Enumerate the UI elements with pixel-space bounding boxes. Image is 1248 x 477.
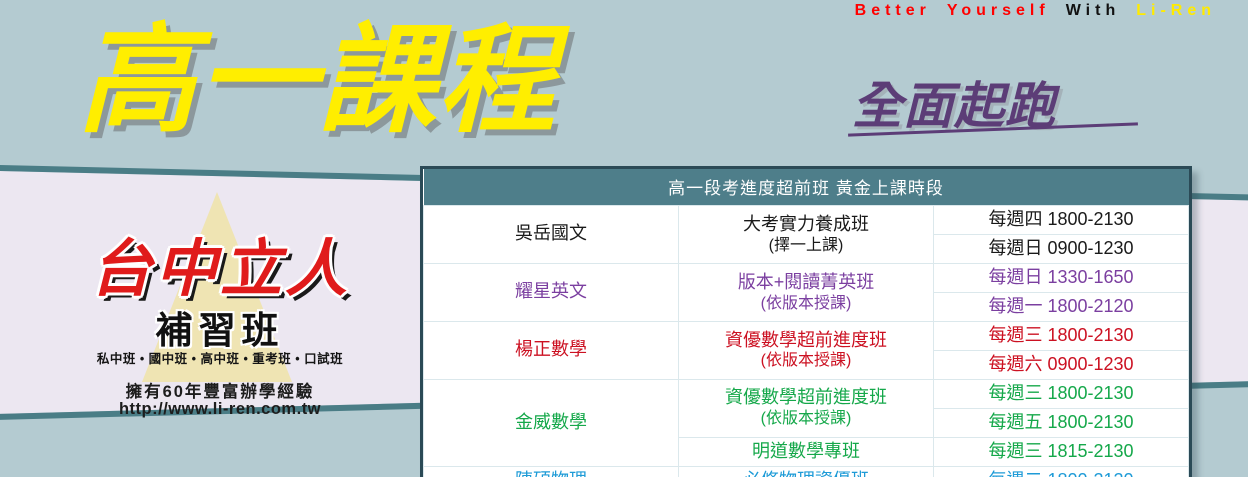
schedule-table-container: 高一段考進度超前班 黃金上課時段 吳岳國文大考實力養成班(擇一上課)每週四 18… (420, 166, 1192, 477)
tagline: BetterYourselfWithLi-Ren (855, 2, 1232, 20)
logo: 台中立人 補習班 私中班 • 國中班 • 高中班 • 重考班 • 口試班 擁有6… (46, 196, 394, 426)
page-title: 高一課程 (78, 16, 558, 143)
schedule-header-title: 高一段考進度超前班 黃金上課時段 (424, 169, 1189, 206)
logo-brand-suffix: 補習班 (46, 300, 394, 354)
logo-brand-name: 台中立人 (46, 218, 394, 308)
cell-timeslot: 每週一 1800-2120 (934, 292, 1189, 321)
cell-course: 明道數學專班 (679, 437, 934, 466)
table-row: 吳岳國文大考實力養成班(擇一上課)每週四 1800-2130 (424, 206, 1189, 235)
cell-course: 版本+閱讀菁英班(依版本授課) (679, 263, 934, 321)
course-title: 資優數學超前進度班 (725, 387, 887, 407)
schedule-table: 高一段考進度超前班 黃金上課時段 吳岳國文大考實力養成班(擇一上課)每週四 18… (423, 169, 1189, 477)
cell-timeslot: 每週五 1800-2130 (934, 408, 1189, 437)
cell-timeslot: 每週三 1800-2130 (934, 321, 1189, 350)
cell-teacher: 耀星英文 (424, 263, 679, 321)
table-row: 陳碩物理必修物理資優班每週二 1800-2120 (424, 466, 1189, 477)
cell-timeslot: 每週日 0900-1230 (934, 234, 1189, 263)
table-row: 金威數學資優數學超前進度班(依版本授課)每週三 1800-2130 (424, 379, 1189, 408)
course-note: (擇一上課) (681, 236, 931, 256)
schedule-table-head: 高一段考進度超前班 黃金上課時段 (424, 169, 1189, 206)
tagline-word-3: Li-Ren (1136, 2, 1216, 19)
course-title: 資優數學超前進度班 (725, 330, 887, 350)
tagline-word-2: With (1066, 2, 1121, 19)
cell-course: 資優數學超前進度班(依版本授課) (679, 321, 934, 379)
logo-experience: 擁有60年豐富辦學經驗 (46, 378, 394, 402)
cell-course: 大考實力養成班(擇一上課) (679, 206, 934, 264)
course-title: 必修物理資優班 (743, 470, 869, 477)
course-title: 大考實力養成班 (743, 214, 869, 234)
cell-timeslot: 每週三 1815-2130 (934, 437, 1189, 466)
cell-teacher: 楊正數學 (424, 321, 679, 379)
course-note: (依版本授課) (681, 294, 931, 314)
course-note: (依版本授課) (681, 409, 931, 429)
cell-timeslot: 每週三 1800-2130 (934, 379, 1189, 408)
course-title: 版本+閱讀菁英班 (738, 272, 875, 292)
poster-canvas: BetterYourselfWithLi-Ren 高一課程 全面起跑 台中立人 … (0, 0, 1248, 477)
tagline-word-1: Yourself (947, 2, 1050, 19)
table-row: 楊正數學資優數學超前進度班(依版本授課)每週三 1800-2130 (424, 321, 1189, 350)
cell-course: 必修物理資優班 (679, 466, 934, 477)
tagline-word-0: Better (855, 2, 931, 19)
logo-website-url: http://www.li-ren.com.tw (46, 400, 394, 419)
logo-course-list: 私中班 • 國中班 • 高中班 • 重考班 • 口試班 (46, 348, 394, 367)
cell-course: 資優數學超前進度班(依版本授課) (679, 379, 934, 437)
course-title: 明道數學專班 (752, 441, 860, 461)
table-row: 耀星英文版本+閱讀菁英班(依版本授課)每週日 1330-1650 (424, 263, 1189, 292)
cell-timeslot: 每週日 1330-1650 (934, 263, 1189, 292)
schedule-header-row: 高一段考進度超前班 黃金上課時段 (424, 169, 1189, 206)
cell-teacher: 金威數學 (424, 379, 679, 466)
cell-timeslot: 每週六 0900-1230 (934, 350, 1189, 379)
schedule-table-body: 吳岳國文大考實力養成班(擇一上課)每週四 1800-2130每週日 0900-1… (424, 206, 1189, 477)
cell-teacher: 吳岳國文 (424, 206, 679, 264)
cell-timeslot: 每週二 1800-2120 (934, 466, 1189, 477)
cell-teacher: 陳碩物理 (424, 466, 679, 477)
course-note: (依版本授課) (681, 351, 931, 371)
cell-timeslot: 每週四 1800-2130 (934, 206, 1189, 235)
